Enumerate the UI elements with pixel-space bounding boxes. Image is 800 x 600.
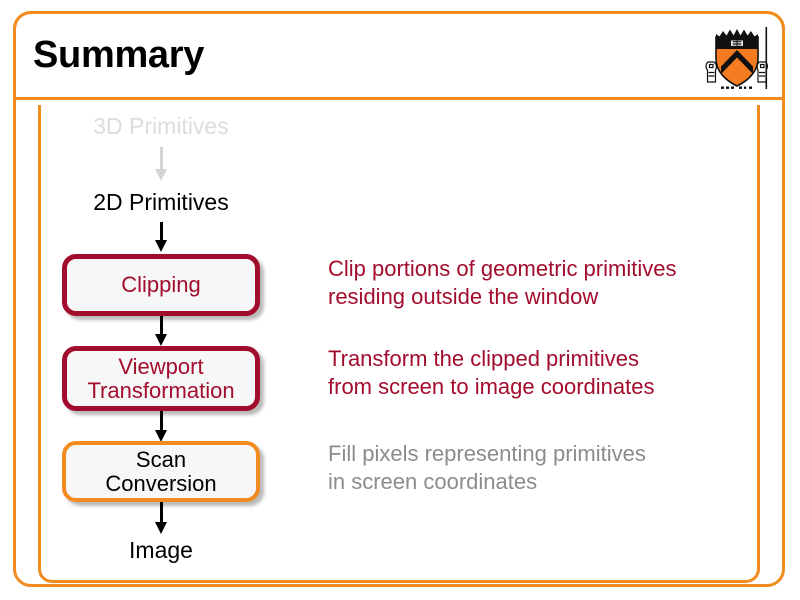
stage-label-scan-line2: Conversion bbox=[105, 471, 216, 496]
arrow-3d-to-2d-icon bbox=[155, 147, 168, 181]
stage-label-scan-conversion: ScanConversion bbox=[105, 448, 216, 495]
stage-box-viewport-transformation[interactable]: ViewportTransformation bbox=[62, 346, 260, 411]
description-viewport-line1: Transform the clipped primitives bbox=[328, 345, 768, 373]
description-clipping-line2: residing outside the window bbox=[328, 283, 768, 311]
stage-box-scan-conversion[interactable]: ScanConversion bbox=[62, 441, 260, 502]
description-viewport-line2: from screen to image coordinates bbox=[328, 373, 768, 401]
flow-node-3d-primitives: 3D Primitives bbox=[61, 114, 261, 138]
slide-canvas: Summary bbox=[0, 0, 800, 600]
flow-node-2d-primitives: 2D Primitives bbox=[61, 190, 261, 214]
stage-label-viewport-transformation: ViewportTransformation bbox=[87, 355, 234, 402]
stage-label-scan-line1: Scan bbox=[136, 447, 186, 472]
stage-label-viewport-line1: Viewport bbox=[118, 354, 203, 379]
arrow-scan-to-image-icon bbox=[155, 502, 168, 535]
stage-box-clipping[interactable]: Clipping bbox=[62, 254, 260, 316]
stage-label-viewport-line2: Transformation bbox=[87, 378, 234, 403]
description-scan-conversion: Fill pixels representing primitives in s… bbox=[328, 440, 768, 496]
stage-label-clipping: Clipping bbox=[121, 273, 201, 296]
flow-node-image: Image bbox=[61, 538, 261, 562]
arrow-clipping-to-viewport-icon bbox=[155, 316, 168, 346]
description-scan-line2: in screen coordinates bbox=[328, 468, 768, 496]
description-scan-line1: Fill pixels representing primitives bbox=[328, 440, 768, 468]
description-viewport-transformation: Transform the clipped primitives from sc… bbox=[328, 345, 768, 401]
arrow-2d-to-clipping-icon bbox=[155, 222, 168, 252]
arrow-viewport-to-scan-icon bbox=[155, 411, 168, 442]
description-clipping-line1: Clip portions of geometric primitives bbox=[328, 255, 768, 283]
description-clipping: Clip portions of geometric primitives re… bbox=[328, 255, 768, 311]
